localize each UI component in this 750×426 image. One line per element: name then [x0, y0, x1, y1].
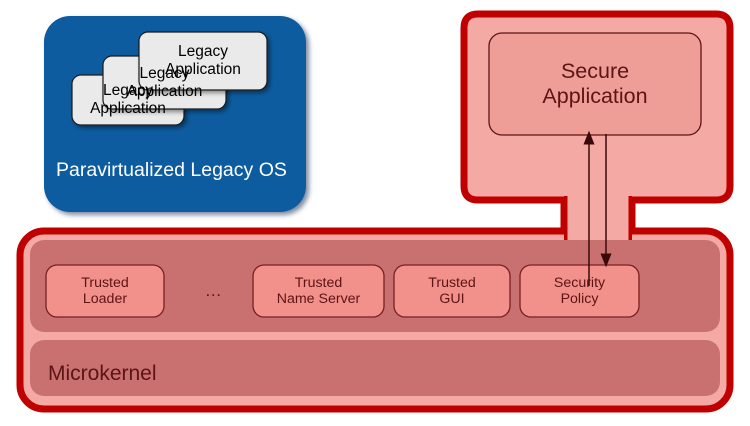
trusted-name-server-box: [253, 265, 384, 317]
architecture-diagram: Legacy Application Legacy Application Le…: [0, 0, 750, 426]
secure-application-inner-box: [489, 33, 701, 135]
security-policy-box: [520, 265, 639, 317]
secure-application-bridge-column: [564, 196, 632, 240]
microkernel-band: [30, 340, 720, 396]
trusted-service-boxes: [46, 265, 639, 317]
trusted-loader-box: [46, 265, 164, 317]
diagram-vector-layer: [0, 0, 750, 426]
trusted-gui-box: [394, 265, 510, 317]
legacy-application-box-front: [139, 32, 267, 90]
